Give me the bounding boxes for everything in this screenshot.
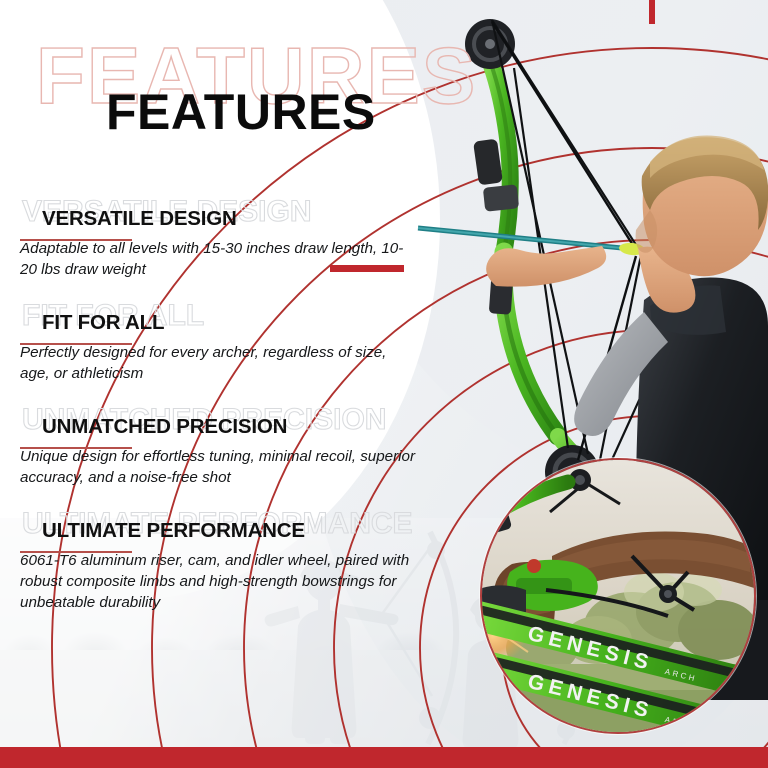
feature-item: ULTIMATE PERFORMANCE ULTIMATE PERFORMANC… <box>0 507 470 614</box>
page-title: FEATURES <box>106 83 376 141</box>
features-list: VERSATILE DESIGN VERSATILE DESIGN Adapta… <box>0 195 470 628</box>
feature-heading: ULTIMATE PERFORMANCE <box>0 507 470 543</box>
feature-body: Adaptable to all levels with 15-30 inche… <box>20 239 420 281</box>
feature-body: 6061-T6 aluminum riser, cam, and idler w… <box>20 551 420 614</box>
closeup-inset-photo: GENESIS ARCH GENESIS ARCH <box>480 458 756 734</box>
inset-photo-content: GENESIS ARCH GENESIS ARCH <box>482 460 754 732</box>
feature-item: UNMATCHED PRECISION UNMATCHED PRECISION … <box>0 403 470 489</box>
feature-heading: UNMATCHED PRECISION <box>0 403 470 439</box>
feature-item: FIT FOR ALL FIT FOR ALL Perfectly design… <box>0 299 470 385</box>
feature-underline <box>20 447 132 449</box>
feature-heading: VERSATILE DESIGN <box>0 195 470 231</box>
feature-heading: FIT FOR ALL <box>0 299 470 335</box>
feature-body: Unique design for effortless tuning, min… <box>20 447 420 489</box>
bottom-red-band <box>0 747 768 768</box>
feature-underline <box>20 239 132 241</box>
feature-underline <box>20 551 132 553</box>
infographic-canvas: FEATURES FEATURES VERSATILE DESIGN VERSA… <box>0 0 768 768</box>
feature-underline <box>20 343 132 345</box>
feature-item: VERSATILE DESIGN VERSATILE DESIGN Adapta… <box>0 195 470 281</box>
feature-body: Perfectly designed for every archer, reg… <box>20 343 420 385</box>
